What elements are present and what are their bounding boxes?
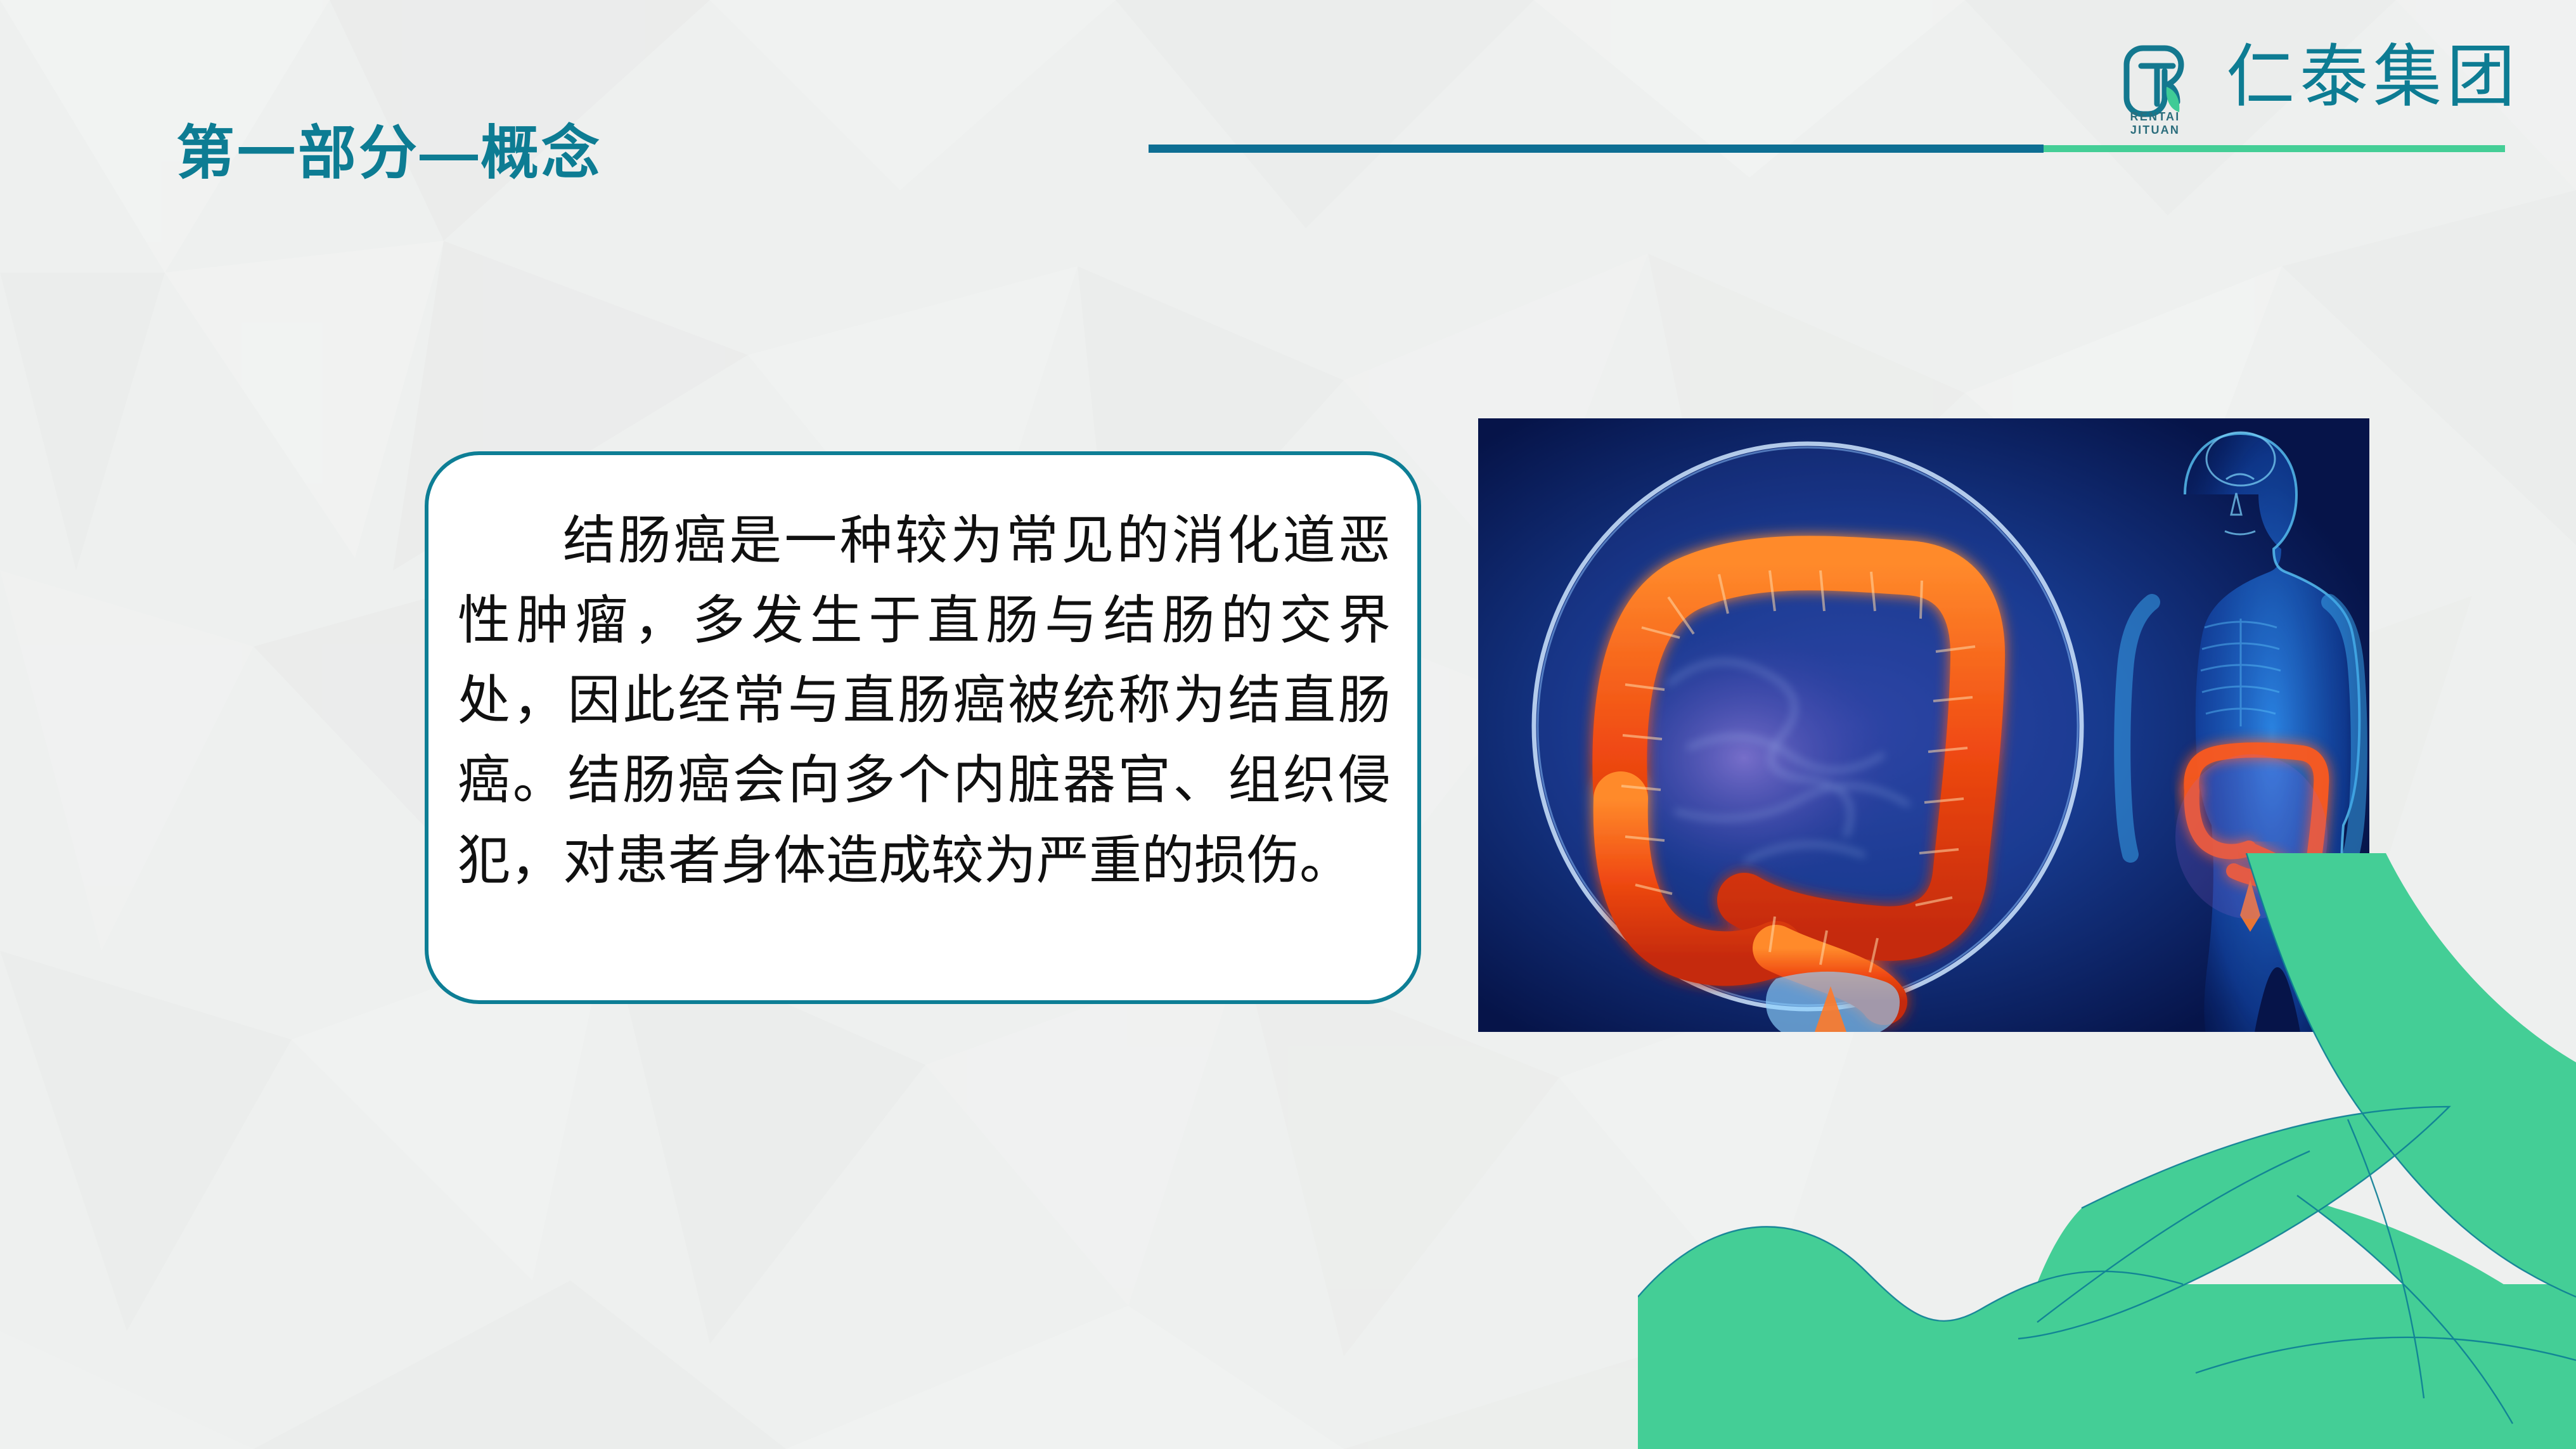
header-divider-teal-segment (1149, 145, 2044, 153)
header-divider-green-segment (2044, 145, 2505, 152)
slide-canvas: 第一部分—概念 RENTAI JITUAN 仁泰集团 结肠癌是一种较为常见的消化… (0, 0, 2576, 1449)
concept-text-card: 结肠癌是一种较为常见的消化道恶性肿瘤，多发生于直肠与结肠的交界处，因此经常与直肠… (425, 451, 1421, 1004)
concept-paragraph: 结肠癌是一种较为常见的消化道恶性肿瘤，多发生于直肠与结肠的交界处，因此经常与直肠… (458, 501, 1391, 901)
rentai-monogram-icon: RENTAI JITUAN (2106, 39, 2201, 134)
header-divider (1149, 145, 2505, 153)
page-title: 第一部分—概念 (176, 124, 602, 183)
colon-anatomy-illustration (1478, 418, 2369, 1032)
logo-pinyin: RENTAI JITUAN (2107, 110, 2203, 137)
logo-wordmark: 仁泰集团 (2226, 41, 2520, 112)
brand-logo: RENTAI JITUAN 仁泰集团 (2106, 39, 2520, 134)
